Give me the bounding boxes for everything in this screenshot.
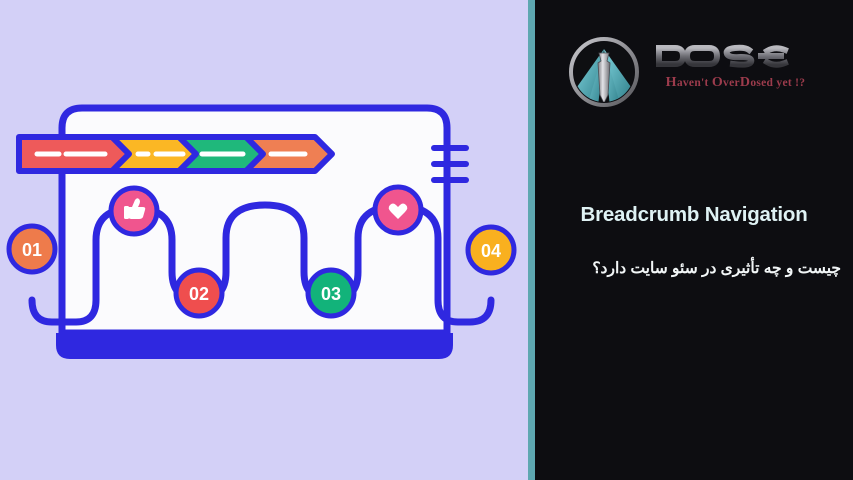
breadcrumb-illustration: 01 02 03 04: [0, 0, 528, 480]
panel-divider: [528, 0, 535, 480]
step-label-04: 04: [481, 241, 501, 261]
breadcrumb-segment-4[interactable]: [246, 137, 332, 171]
laptop-base: [56, 333, 453, 359]
step-circle-02[interactable]: 02: [176, 270, 222, 316]
heart-icon[interactable]: [375, 187, 421, 233]
step-label-03: 03: [321, 284, 341, 304]
page-title: Breadcrumb Navigation: [535, 203, 853, 227]
tagline-part-6: osed: [750, 77, 776, 89]
brand-logo[interactable]: Haven't OverDosed yet !?: [565, 33, 830, 118]
step-circle-01[interactable]: 01: [9, 226, 55, 272]
breadcrumb-bar: [19, 137, 332, 171]
step-circle-04[interactable]: 04: [468, 227, 514, 273]
logo-text: Haven't OverDosed yet !?: [653, 41, 833, 91]
wordmark-dose11-icon: [653, 41, 813, 71]
content-panel: Haven't OverDosed yet !? Breadcrumb Navi…: [535, 0, 853, 480]
logo-tagline: Haven't OverDosed yet !?: [653, 75, 818, 91]
tagline-part-4: ver: [723, 77, 740, 89]
step-label-02: 02: [189, 284, 209, 304]
tagline-part-1: H: [666, 75, 677, 90]
screenshot-root: 01 02 03 04: [0, 0, 853, 480]
step-circle-03[interactable]: 03: [308, 270, 354, 316]
page-subtitle: چیست و چه تأثیری در سئو سایت دارد؟: [535, 258, 853, 280]
step-label-01: 01: [22, 240, 42, 260]
tagline-part-2: aven't: [677, 77, 712, 89]
illustration-panel: 01 02 03 04: [0, 0, 528, 480]
tagline-part-5: D: [740, 75, 750, 90]
thumbs-up-icon[interactable]: [111, 188, 157, 234]
tagline-part-3: O: [712, 75, 723, 90]
necktie-circle-emblem-icon: [565, 33, 643, 111]
tagline-part-7: yet !?: [776, 77, 805, 89]
